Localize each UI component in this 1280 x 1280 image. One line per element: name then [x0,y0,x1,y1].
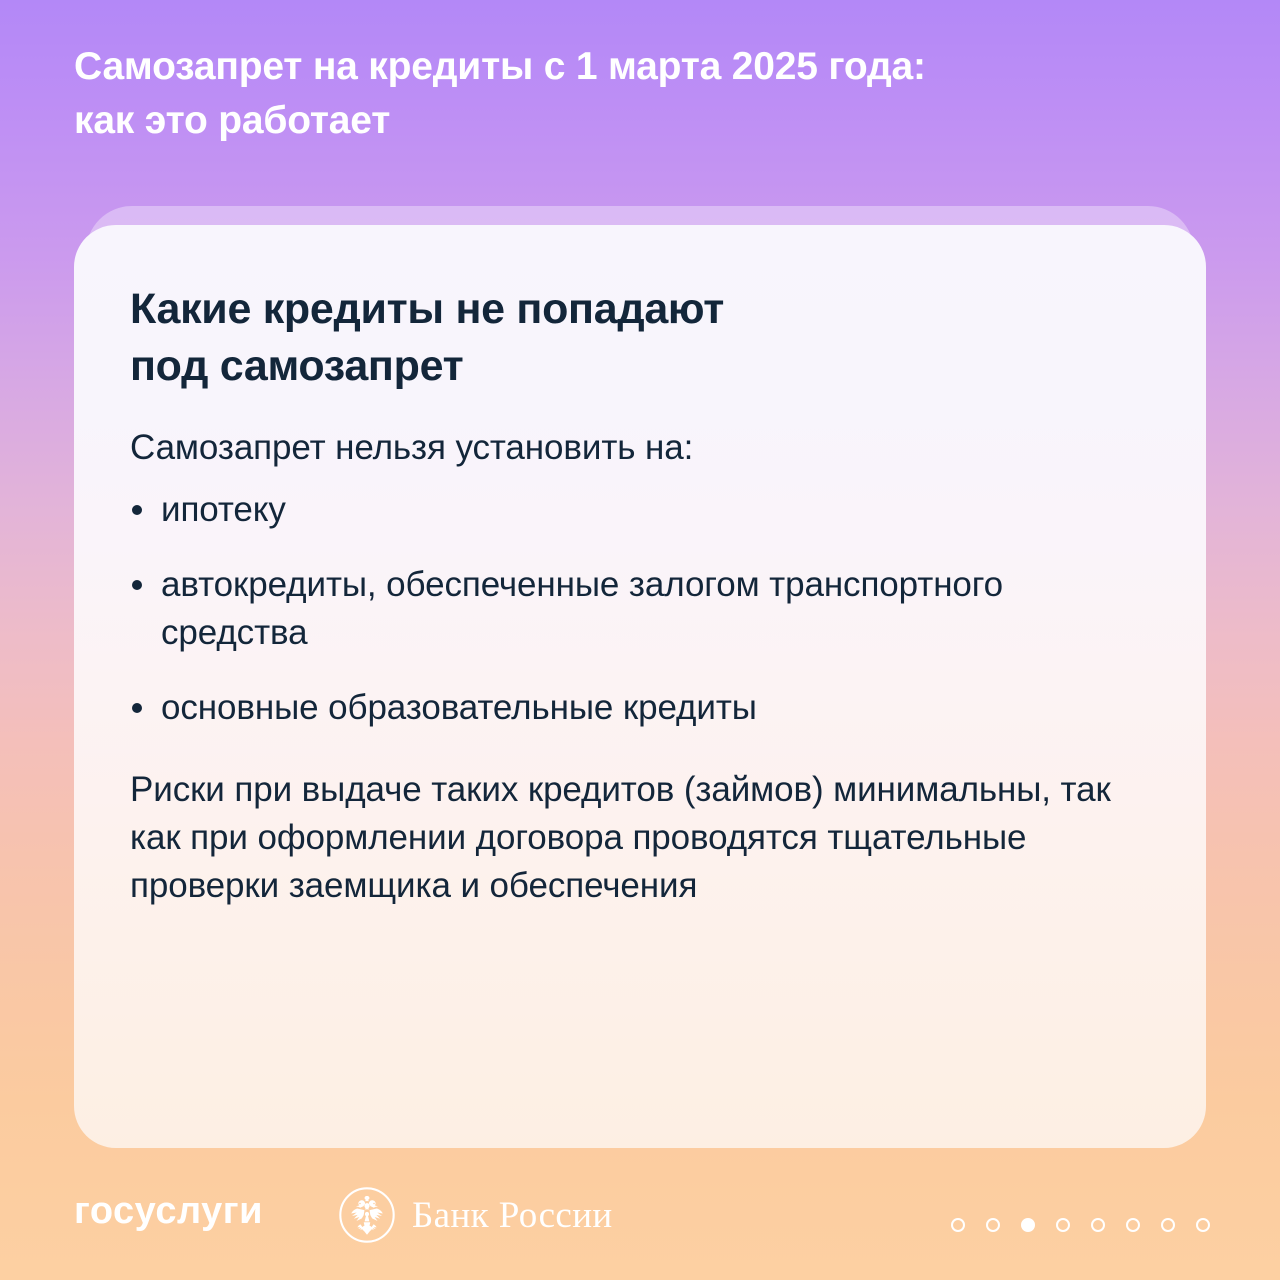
list-item: основные образовательные кредиты [130,684,1144,732]
slide-title: Самозапрет на кредиты с 1 марта 2025 год… [74,40,1134,148]
bank-of-russia-name: Банк России [412,1197,613,1234]
exclusions-list: ипотеку автокредиты, обеспеченные залого… [130,486,1144,732]
list-item: ипотеку [130,486,1144,534]
pagination-dot-1[interactable] [951,1218,965,1232]
gosuslugi-logo: госуслуги [74,1192,263,1230]
double-headed-eagle-icon [338,1186,396,1244]
pagination-dot-8[interactable] [1196,1218,1210,1232]
list-item: автокредиты, обеспеченные залогом трансп… [130,561,1144,656]
list-item-label: основные образовательные кредиты [161,688,757,727]
pagination-dots[interactable] [951,1218,1210,1232]
card-lead-text: Самозапрет нельзя установить на: [130,425,1144,471]
pagination-dot-7[interactable] [1161,1218,1175,1232]
list-item-label: ипотеку [161,490,286,529]
pagination-dot-4[interactable] [1056,1218,1070,1232]
bullet-dot-icon [132,505,142,515]
list-item-label: автокредиты, обеспеченные залогом трансп… [161,565,1003,652]
card-closing-text: Риски при выдаче таких кредитов (займов)… [130,766,1144,910]
pagination-dot-3[interactable] [1021,1218,1035,1232]
content-card: Какие кредиты не попадают под самозапрет… [74,225,1206,1148]
pagination-dot-2[interactable] [986,1218,1000,1232]
card-heading: Какие кредиты не попадают под самозапрет [130,281,1144,395]
bullet-dot-icon [132,580,142,590]
slide-footer: госуслуги [0,1180,1280,1280]
bank-of-russia-lockup: Банк России [338,1186,613,1244]
slide-canvas: Самозапрет на кредиты с 1 марта 2025 год… [0,0,1280,1280]
bullet-dot-icon [132,703,142,713]
pagination-dot-5[interactable] [1091,1218,1105,1232]
pagination-dot-6[interactable] [1126,1218,1140,1232]
